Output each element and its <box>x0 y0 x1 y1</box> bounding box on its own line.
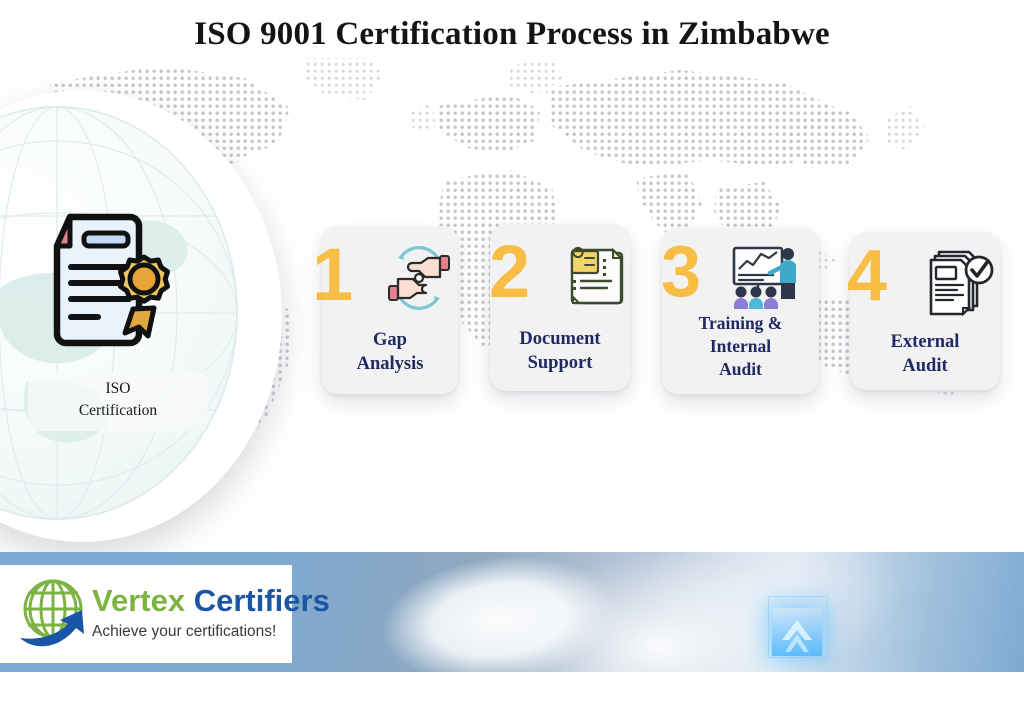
step-2-label-line1: Document <box>519 329 600 349</box>
step-3-label-line2: Internal <box>710 336 771 356</box>
iso-label-line2: Certification <box>79 402 157 419</box>
step-3-label: Training & Internal Audit <box>662 312 819 381</box>
step-1-label-line1: Gap <box>373 330 407 350</box>
logo-text: Vertex Certifiers Achieve your certifica… <box>92 585 292 641</box>
logo-certifiers-text: Certifiers <box>194 583 330 618</box>
step-4-label: External Audit <box>850 330 1000 379</box>
bottom-white-strip <box>0 672 1024 724</box>
handshake-collaboration-icon <box>380 243 458 313</box>
logo-vertex-text: Vertex <box>92 583 185 618</box>
step-4-label-line2: Audit <box>902 356 947 376</box>
iso-certification-label: ISO Certification <box>28 372 208 431</box>
step-3-label-line1: Training & <box>699 313 783 333</box>
documents-notes-icon <box>561 243 633 313</box>
green-globe-blue-arrow-logo <box>14 576 96 652</box>
step-2-label: Document Support <box>490 327 630 376</box>
company-logo[interactable]: Vertex Certifiers Achieve your certifica… <box>0 565 292 663</box>
step-3-number: 3 <box>661 236 701 308</box>
page-title: ISO 9001 Certification Process in Zimbab… <box>0 16 1024 53</box>
training-presentation-icon <box>729 243 803 313</box>
step-1-number: 1 <box>312 238 353 312</box>
hand-shape <box>323 552 687 672</box>
document-stack-check-icon <box>925 248 999 318</box>
logo-wordmark: Vertex Certifiers <box>92 585 292 616</box>
certificate-document-icon <box>40 205 180 355</box>
step-1-label-line2: Analysis <box>357 354 424 374</box>
step-2-label-line2: Support <box>528 353 593 373</box>
step-2-number: 2 <box>489 235 530 309</box>
step-1-label: Gap Analysis <box>322 328 458 377</box>
iso-label-line1: ISO <box>106 380 131 397</box>
step-3-label-line3: Audit <box>719 359 762 379</box>
step-4-number: 4 <box>847 240 887 312</box>
step-4-label-line1: External <box>891 332 960 352</box>
infographic-canvas: ISO 9001 Certification Process in Zimbab… <box>0 0 1024 724</box>
upward-arrow-icon <box>778 616 816 656</box>
logo-tagline: Achieve your certifications! <box>92 623 292 641</box>
